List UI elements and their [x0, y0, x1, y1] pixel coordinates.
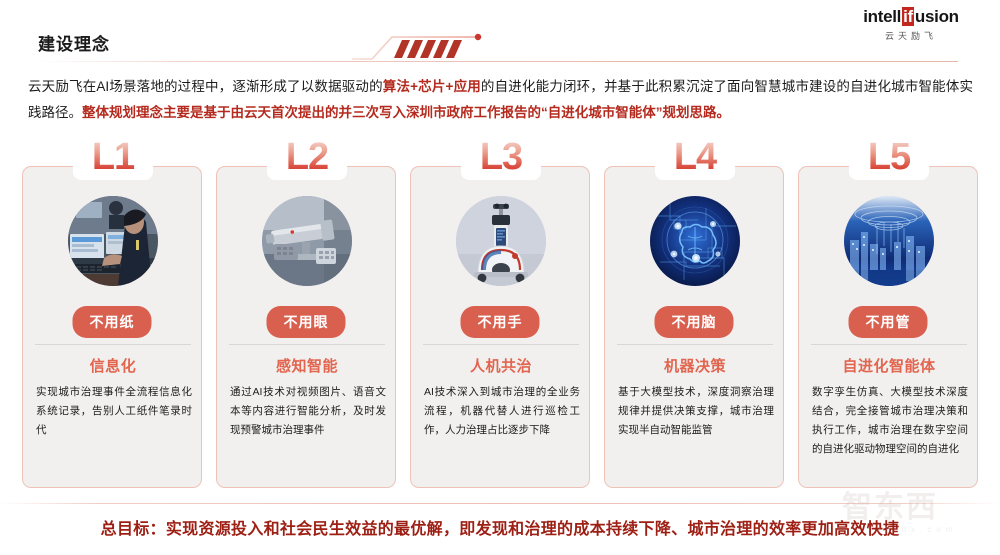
level-card-l3[interactable]: L3	[410, 166, 590, 488]
level-number-l5: L5	[799, 137, 979, 177]
header-divider	[38, 61, 958, 62]
operator-at-workstation-photo-icon	[68, 196, 158, 286]
striped-arrow-decoration-icon	[352, 27, 482, 61]
intro-paragraph: 云天励飞在AI场景落地的过程中，逐渐形成了以数据驱动的算法+芯片+应用的自进化能…	[28, 74, 973, 126]
level-card-l1[interactable]: L1	[22, 166, 202, 488]
card-divider	[35, 344, 191, 345]
level-title-l1: 信息化	[23, 355, 203, 376]
watermark-domain: zhidx.com	[842, 525, 992, 534]
level-pill-l1: 不用纸	[73, 306, 152, 338]
patrol-robot-photo-icon	[456, 196, 546, 286]
level-card-l4[interactable]: L4	[604, 166, 784, 488]
card-divider	[617, 344, 773, 345]
intro-segment-1: 云天励飞在AI场景落地的过程中，逐渐形成了以数据驱动的	[28, 79, 383, 94]
level-description-l3: AI技术深入到城市治理的全业务流程，机器代替人进行巡检工作，人力治理占比逐步下降	[424, 383, 580, 440]
page-title: 建设理念	[38, 30, 110, 55]
logo-highlight: if	[902, 7, 914, 26]
intro-emphasis-1: 算法+芯片+应用	[383, 79, 481, 94]
zhidx-watermark: 智东西 zhidx.com	[842, 491, 992, 551]
logo-wordmark: intellifusion	[836, 8, 986, 25]
level-pill-l4: 不用脑	[655, 306, 734, 338]
level-description-l4: 基于大模型技术，深度洞察治理规律并提供决策支撑，城市治理实现半自动智能监管	[618, 383, 774, 440]
page-header: 建设理念 intellifusion 云天励飞	[0, 0, 1000, 62]
level-description-l2: 通过AI技术对视频图片、语音文本等内容进行智能分析，及时发现预警城市治理事件	[230, 383, 386, 440]
card-divider	[229, 344, 385, 345]
level-number-l4: L4	[605, 137, 785, 177]
logo-chinese-name: 云天励飞	[836, 29, 986, 42]
level-pill-l3: 不用手	[461, 306, 540, 338]
level-title-l4: 机器决策	[605, 355, 785, 376]
intro-emphasis-2: 整体规划理念主要是基于由云天首次提出的并三次写入深圳市政府工作报告的“自进化城市…	[82, 105, 730, 120]
level-title-l3: 人机共治	[411, 355, 591, 376]
level-pill-l5: 不用管	[849, 306, 928, 338]
level-number-l3: L3	[411, 137, 591, 177]
card-divider	[811, 344, 967, 345]
card-divider	[423, 344, 579, 345]
surveillance-camera-photo-icon	[262, 196, 352, 286]
digital-twin-city-photo-icon	[844, 196, 934, 286]
ai-brain-circuit-photo-icon	[650, 196, 740, 286]
company-logo: intellifusion 云天励飞	[836, 8, 986, 42]
level-pill-l2: 不用眼	[267, 306, 346, 338]
level-number-l1: L1	[23, 137, 203, 177]
level-description-l5: 数字孪生仿真、大模型技术深度结合，完全接管城市治理决策和执行工作，城市治理在数字…	[812, 383, 968, 459]
level-description-l1: 实现城市治理事件全流程信息化系统记录，告别人工纸件笔录时代	[36, 383, 192, 440]
maturity-level-card-list: L1	[22, 166, 978, 488]
level-title-l5: 自进化智能体	[799, 355, 979, 376]
level-number-l2: L2	[217, 137, 397, 177]
logo-part-3: usion	[915, 7, 959, 26]
level-card-l2[interactable]: L2	[216, 166, 396, 488]
level-title-l2: 感知智能	[217, 355, 397, 376]
logo-part-1: intell	[863, 7, 901, 26]
level-card-l5[interactable]: L5	[798, 166, 978, 488]
watermark-text: 智东西	[842, 491, 992, 525]
